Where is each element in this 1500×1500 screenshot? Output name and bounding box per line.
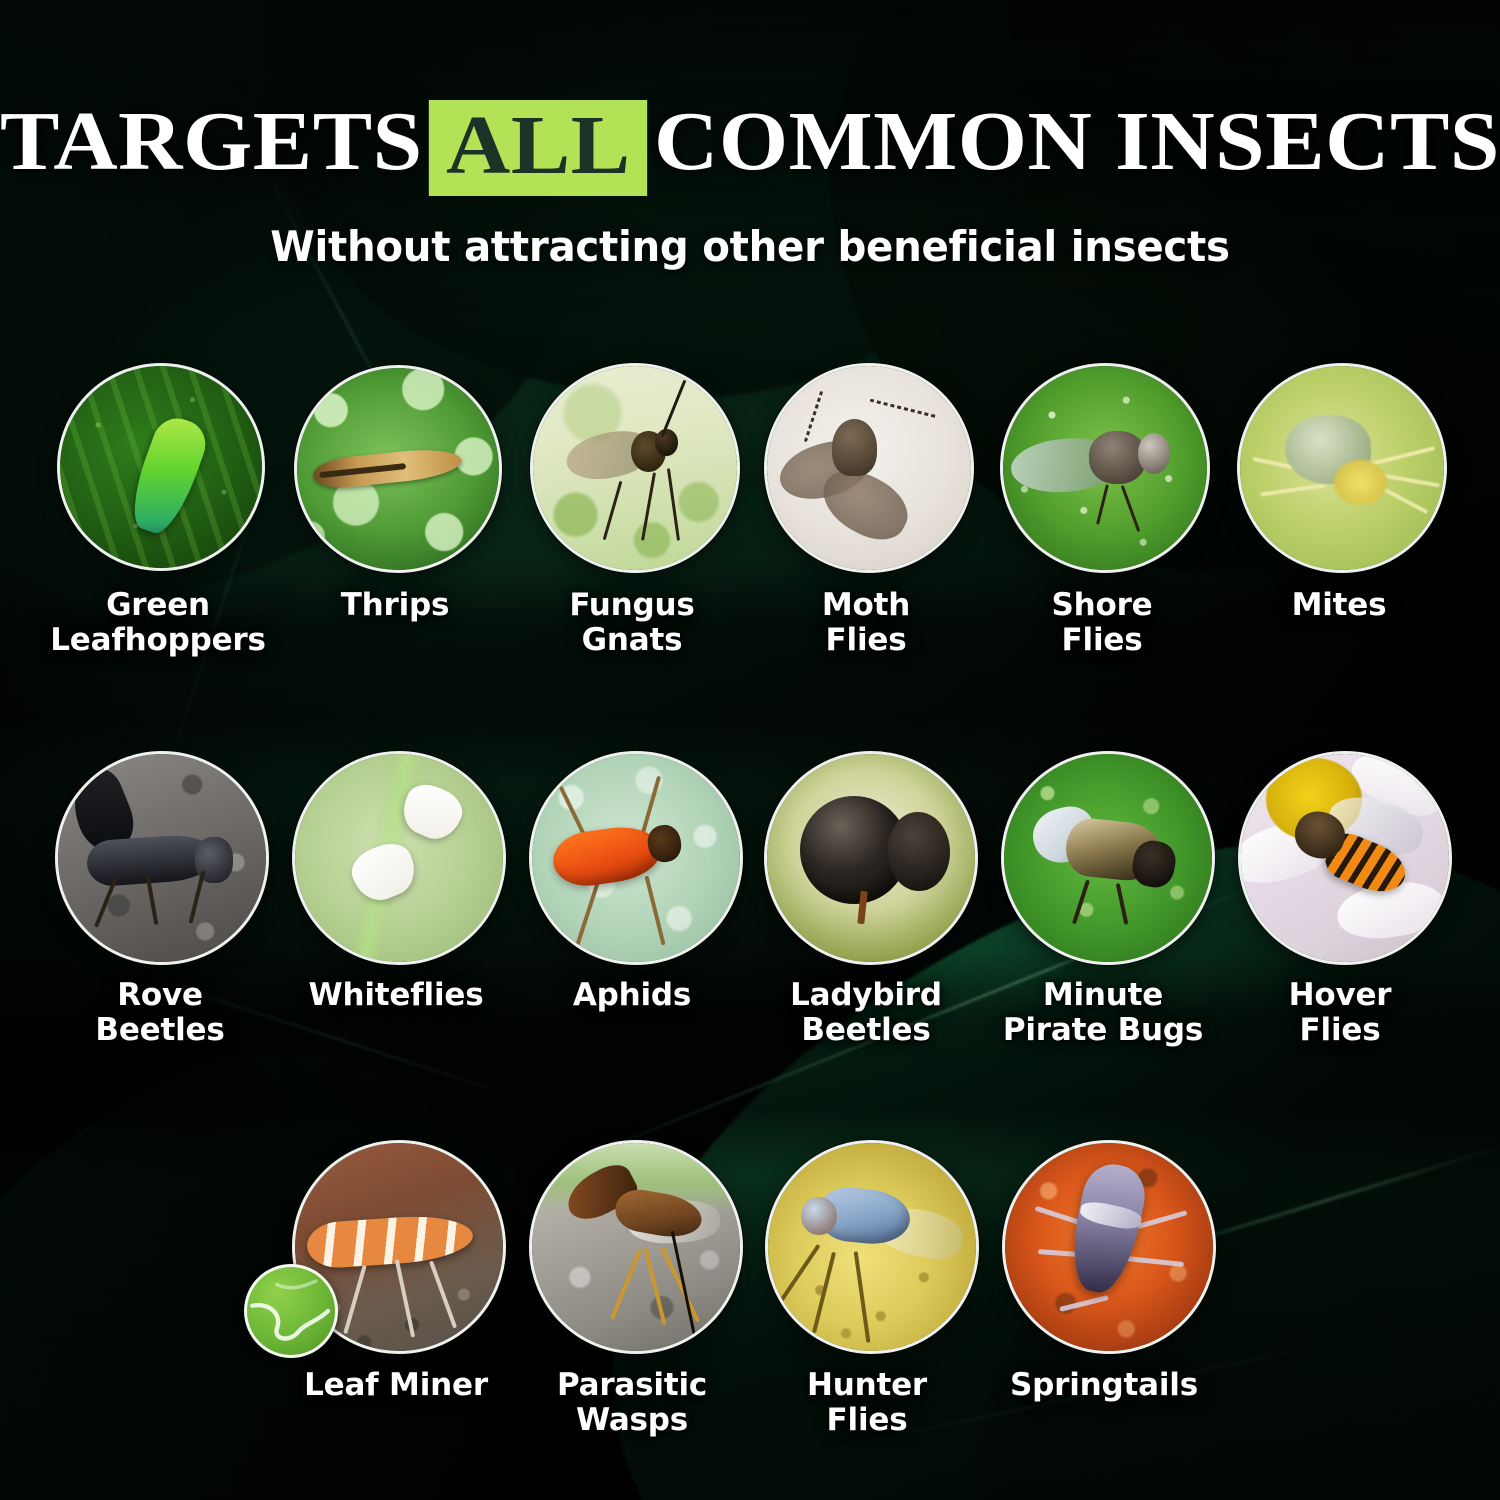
fungus-gnat-photo[interactable] [530,363,740,573]
moth-fly-photo[interactable] [764,363,974,573]
rove-beetle-photo[interactable] [55,751,269,965]
green-leafhopper-photo[interactable] [57,363,265,571]
hunter-fly-photo[interactable] [765,1140,979,1354]
ladybird-beetle-photo[interactable] [764,751,978,965]
insect-grid: Green Leafhoppers Thrips [0,0,1500,1500]
whitefly-photo[interactable] [292,751,506,965]
thrips-photo[interactable] [294,365,502,573]
leaf-mine-trail-inset[interactable] [244,1264,338,1358]
mites-photo[interactable] [1237,363,1447,573]
insect-label: Mites [1199,588,1479,623]
aphid-photo[interactable] [529,751,743,965]
hover-fly-photo[interactable] [1238,751,1452,965]
insect-label: Springtails [964,1368,1244,1403]
leaf-mine-trail-icon [247,1267,335,1355]
shore-fly-photo[interactable] [1000,363,1210,573]
parasitic-wasp-photo[interactable] [529,1140,743,1354]
insect-label: Hover Flies [1200,978,1480,1047]
springtail-photo[interactable] [1002,1140,1216,1354]
minute-pirate-bug-photo[interactable] [1001,751,1215,965]
infographic-poster: TARGETSALLCOMMON INSECTS Without attract… [0,0,1500,1500]
